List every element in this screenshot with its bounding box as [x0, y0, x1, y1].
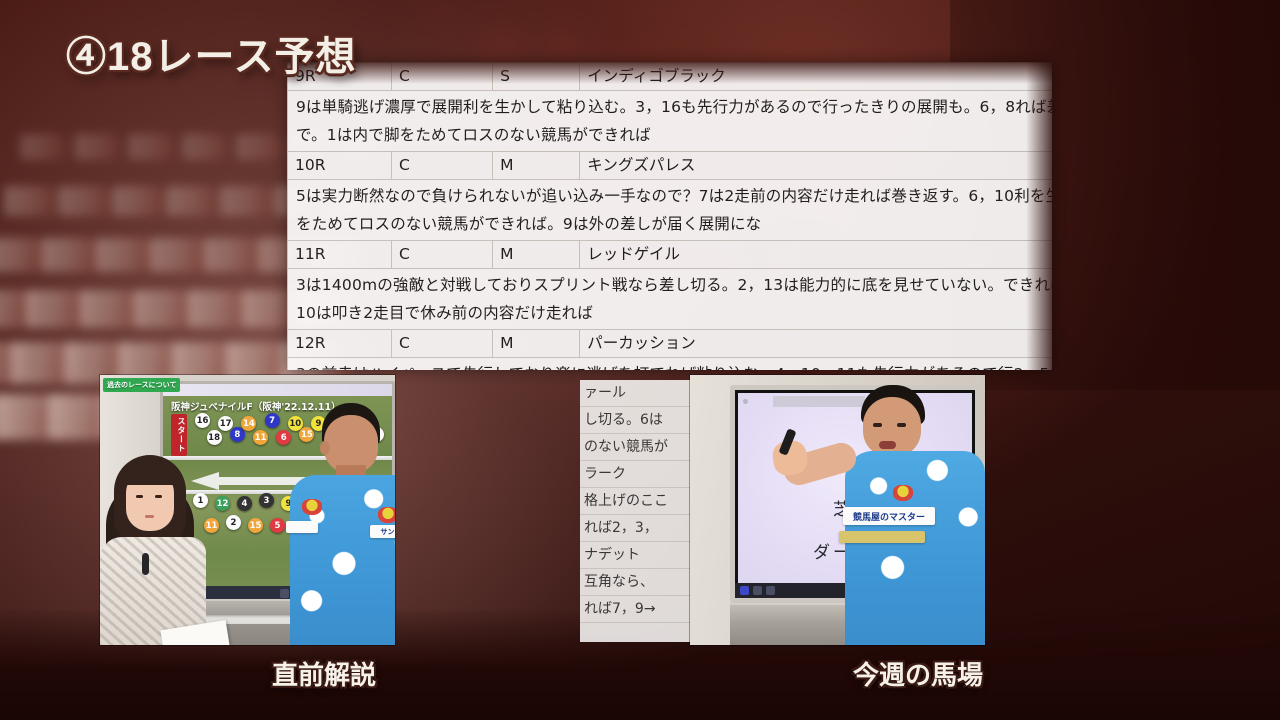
table-row[interactable]: 12RCMパーカッション3→10,11,4,2,1,5	[288, 330, 1053, 358]
presenter-man-right: 競馬屋のマスター	[835, 385, 985, 645]
cell-grade: C	[391, 241, 492, 269]
stadium-seat	[74, 134, 120, 160]
play-icon-right[interactable]	[740, 586, 749, 595]
cell-commentary: 3の前走はハイペースで先行しており楽に逃げを打てれば粘り込む。4，10，11も先…	[288, 358, 1053, 371]
race-prediction-table[interactable]: 9RCSインディゴブラック9→16,3,8,7,6,129は単騎逃げ濃厚で展開利…	[287, 62, 1052, 370]
stadium-seat	[182, 134, 228, 160]
video-panel-left[interactable]: 阪神ジュベナイルF（阪神'22.12.11） スタート ゴール 16181781…	[100, 375, 395, 645]
table-note-row: 9は単騎逃げ濃厚で展開利を生かして粘り込む。3，16も先行力があるので行ったきり…	[288, 91, 1053, 152]
table-note-row: 3の前走はハイペースで先行しており楽に逃げを打てれば粘り込む。4，10，11も先…	[288, 358, 1053, 371]
hidden-table-line: れば2，3，	[580, 515, 692, 542]
cell-race: 11R	[288, 241, 392, 269]
cell-distance: M	[493, 330, 580, 358]
stadium-seat	[96, 238, 154, 272]
horse-marker: 11	[253, 430, 268, 445]
stadium-seat	[0, 238, 46, 272]
horse-marker: 2	[226, 515, 241, 530]
shirt-crest-icon-2	[378, 507, 395, 523]
stadium-seat	[166, 186, 218, 216]
stadium-seat	[150, 238, 208, 272]
hidden-table-line: ラーク	[580, 461, 692, 488]
horse-marker: 8	[230, 427, 245, 442]
topic-badge: 過去のレースについて	[103, 378, 180, 392]
presenter-man-left: サンリ	[290, 403, 395, 645]
stadium-seat	[42, 238, 100, 272]
stadium-seat	[58, 186, 110, 216]
stadium-seat	[112, 186, 164, 216]
pen-icon-right[interactable]	[753, 586, 762, 595]
horse-marker: 15	[248, 518, 263, 533]
stadium-seat	[220, 186, 272, 216]
screen-topbar-left	[163, 384, 392, 396]
hidden-table-line: のない競馬が	[580, 434, 692, 461]
screenshot-root: ④18レース予想 ァールし切る。6はのない競馬がラーク格上げのここれば2，3，ナ…	[0, 0, 1280, 720]
hidden-table-line: 互角なら、	[580, 569, 692, 596]
hidden-table-line: し切る。6は	[580, 407, 692, 434]
hidden-table-line: ナデット	[580, 542, 692, 569]
stadium-seat	[236, 134, 282, 160]
table-row[interactable]: 9RCSインディゴブラック9→16,3,8,7,6,12	[288, 63, 1053, 91]
cell-distance: M	[493, 241, 580, 269]
cell-commentary: 3は1400mの強敵と対戦しておりスプリント戦なら差し切る。2，13は能力的に底…	[288, 269, 1053, 330]
cell-race: 12R	[288, 330, 392, 358]
stadium-seat	[4, 186, 56, 216]
hidden-table-line: 格上げのここ	[580, 488, 692, 515]
cell-commentary: 9は単騎逃げ濃厚で展開利を生かして粘り込む。3，16も先行力があるので行ったきり…	[288, 91, 1053, 152]
cell-grade: C	[391, 152, 492, 180]
cell-distance: S	[493, 63, 580, 91]
stadium-seat	[128, 134, 174, 160]
table-hidden-strip: ァールし切る。6はのない競馬がラーク格上げのここれば2，3，ナデット互角なら、れ…	[580, 380, 692, 642]
table-note-row: 3は1400mの強敵と対戦しておりスプリント戦なら差し切る。2，13は能力的に底…	[288, 269, 1053, 330]
microphone-icon	[142, 553, 149, 575]
shirt-sponsor-patch-right-2	[839, 531, 925, 543]
horse-marker: 12	[215, 496, 230, 511]
page-title: ④18レース予想	[66, 24, 357, 82]
cell-horse-name: パーカッション	[580, 330, 1052, 358]
shirt-crest-icon	[302, 499, 322, 515]
shirt-crest-icon-right	[893, 485, 913, 501]
video-panel-right[interactable]: 東京 芝 フラット ダート フラット	[690, 375, 985, 645]
stadium-seat	[20, 134, 66, 160]
shirt-sponsor-patch-right: 競馬屋のマスター	[843, 507, 935, 525]
cell-distance: M	[493, 152, 580, 180]
hidden-table-line: れば7，9→	[580, 596, 692, 623]
table-row[interactable]: 11RCMレッドゲイル3→2,13,8,12,4,10	[288, 241, 1053, 269]
crowd-blob	[430, 0, 456, 26]
cell-commentary: 5は実力断然なので負けられないが追い込み一手なので？7は2走前の内容だけ走れば巻…	[288, 180, 1053, 241]
cell-race: 10R	[288, 152, 392, 180]
horse-marker: 4	[237, 496, 252, 511]
hidden-table-line: ァール	[580, 380, 692, 407]
horse-marker: 7	[265, 413, 280, 428]
horse-marker: 5	[270, 518, 285, 533]
zoom-icon[interactable]	[280, 589, 289, 598]
presenter-woman	[100, 419, 208, 645]
table-note-row: 5は実力断然なので負けられないが追い込み一手なので？7は2走前の内容だけ走れば巻…	[288, 180, 1053, 241]
screen-status-dot	[743, 399, 748, 404]
caption-left: 直前解説	[272, 655, 376, 692]
table-row[interactable]: 10RCMキングズパレス5→7,6,10,2,9,3	[288, 152, 1053, 180]
cell-horse-name: キングズパレス	[580, 152, 1052, 180]
cell-horse-name: レッドゲイル	[580, 241, 1052, 269]
shirt-sponsor-patch-2	[286, 521, 318, 533]
horse-marker: 3	[259, 493, 274, 508]
cell-horse-name: インディゴブラック	[580, 63, 1052, 91]
cell-grade: C	[391, 330, 492, 358]
shirt-sponsor-patch: サンリ	[370, 525, 395, 538]
caption-right: 今週の馬場	[853, 655, 983, 692]
close-icon-right[interactable]	[766, 586, 775, 595]
crowd-blob	[547, 31, 576, 60]
cell-grade: C	[391, 63, 492, 91]
horse-marker: 18	[207, 430, 222, 445]
stadium-seat	[204, 238, 262, 272]
